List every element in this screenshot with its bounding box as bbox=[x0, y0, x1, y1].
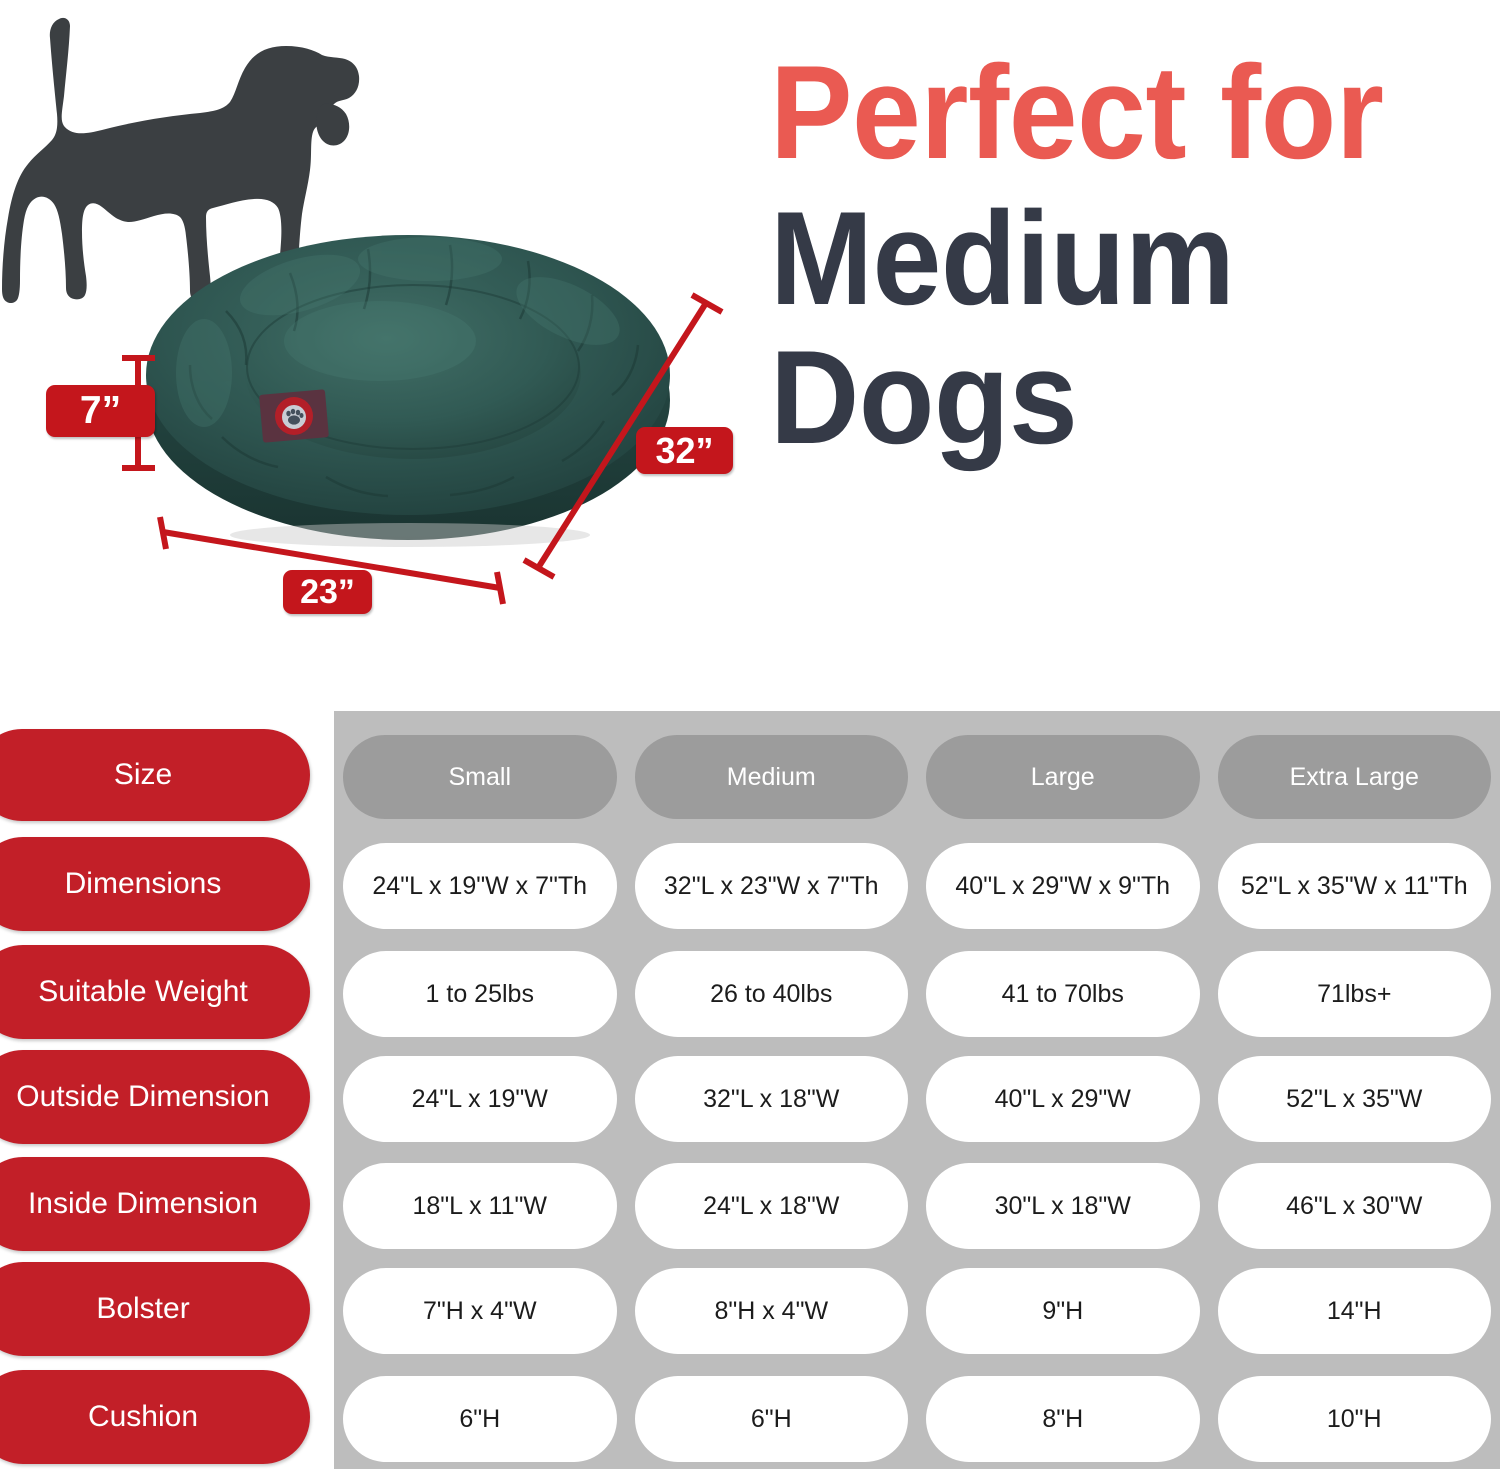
spec-cell: 10"H bbox=[1218, 1376, 1492, 1462]
spec-cell: 8"H x 4"W bbox=[635, 1268, 909, 1354]
spec-column-header-small: Small bbox=[343, 735, 617, 819]
spec-cell: 26 to 40lbs bbox=[635, 951, 909, 1037]
spec-row-label-size: Size bbox=[0, 729, 310, 821]
spec-table-panel: SmallMediumLargeExtra Large24"L x 19"W x… bbox=[334, 711, 1500, 1469]
callout-height: 7” bbox=[46, 385, 155, 437]
callout-length: 32” bbox=[636, 427, 733, 474]
spec-table-row: 7"H x 4"W8"H x 4"W9"H14"H bbox=[334, 1268, 1500, 1354]
spec-cell: 18"L x 11"W bbox=[343, 1163, 617, 1249]
headline-line-3: Dogs bbox=[770, 337, 1440, 459]
spec-table-row: 24"L x 19"W x 7"Th32"L x 23"W x 7"Th40"L… bbox=[334, 843, 1500, 929]
spec-row-label-column: SizeDimensionsSuitable WeightOutside Dim… bbox=[0, 711, 334, 1469]
headline-line-2: Medium bbox=[770, 198, 1440, 320]
spec-row-label-dimensions: Dimensions bbox=[0, 837, 310, 931]
spec-cell: 40"L x 29"W x 9"Th bbox=[926, 843, 1200, 929]
spec-cell: 14"H bbox=[1218, 1268, 1492, 1354]
spec-cell: 30"L x 18"W bbox=[926, 1163, 1200, 1249]
spec-cell: 1 to 25lbs bbox=[343, 951, 617, 1037]
spec-table-row: 18"L x 11"W24"L x 18"W30"L x 18"W46"L x … bbox=[334, 1163, 1500, 1249]
spec-cell: 24"L x 19"W bbox=[343, 1056, 617, 1142]
spec-table-header-row: SmallMediumLargeExtra Large bbox=[334, 735, 1500, 819]
spec-cell: 52"L x 35"W x 11"Th bbox=[1218, 843, 1492, 929]
spec-cell: 41 to 70lbs bbox=[926, 951, 1200, 1037]
spec-table-row: 6"H6"H8"H10"H bbox=[334, 1376, 1500, 1462]
spec-row-label-cushion: Cushion bbox=[0, 1370, 310, 1464]
spec-cell: 9"H bbox=[926, 1268, 1200, 1354]
headline-line-1: Perfect for bbox=[770, 52, 1440, 174]
spec-cell: 24"L x 19"W x 7"Th bbox=[343, 843, 617, 929]
spec-row-label-inside-dimension: Inside Dimension bbox=[0, 1157, 310, 1251]
dog-bed-product-image bbox=[130, 215, 690, 565]
spec-table-row: 24"L x 19"W32"L x 18"W40"L x 29"W52"L x … bbox=[334, 1056, 1500, 1142]
spec-cell: 32"L x 18"W bbox=[635, 1056, 909, 1142]
spec-column-header-large: Large bbox=[926, 735, 1200, 819]
callout-width: 23” bbox=[283, 570, 372, 614]
spec-cell: 71lbs+ bbox=[1218, 951, 1492, 1037]
spec-row-label-suitable-weight: Suitable Weight bbox=[0, 945, 310, 1039]
spec-row-label-bolster: Bolster bbox=[0, 1262, 310, 1356]
spec-cell: 46"L x 30"W bbox=[1218, 1163, 1492, 1249]
spec-column-header-extra-large: Extra Large bbox=[1218, 735, 1492, 819]
page-title: Perfect for Medium Dogs bbox=[770, 52, 1490, 459]
spec-cell: 32"L x 23"W x 7"Th bbox=[635, 843, 909, 929]
spec-row-label-outside-dimension: Outside Dimension bbox=[0, 1050, 310, 1144]
spec-cell: 8"H bbox=[926, 1376, 1200, 1462]
spec-cell: 6"H bbox=[635, 1376, 909, 1462]
spec-table-row: 1 to 25lbs26 to 40lbs41 to 70lbs71lbs+ bbox=[334, 951, 1500, 1037]
spec-cell: 7"H x 4"W bbox=[343, 1268, 617, 1354]
spec-cell: 6"H bbox=[343, 1376, 617, 1462]
brand-tag-logo bbox=[259, 389, 329, 443]
spec-cell: 40"L x 29"W bbox=[926, 1056, 1200, 1142]
hero-section: Perfect for Medium Dogs 7” 32” 23” bbox=[0, 0, 1500, 700]
spec-cell: 52"L x 35"W bbox=[1218, 1056, 1492, 1142]
spec-cell: 24"L x 18"W bbox=[635, 1163, 909, 1249]
spec-column-header-medium: Medium bbox=[635, 735, 909, 819]
